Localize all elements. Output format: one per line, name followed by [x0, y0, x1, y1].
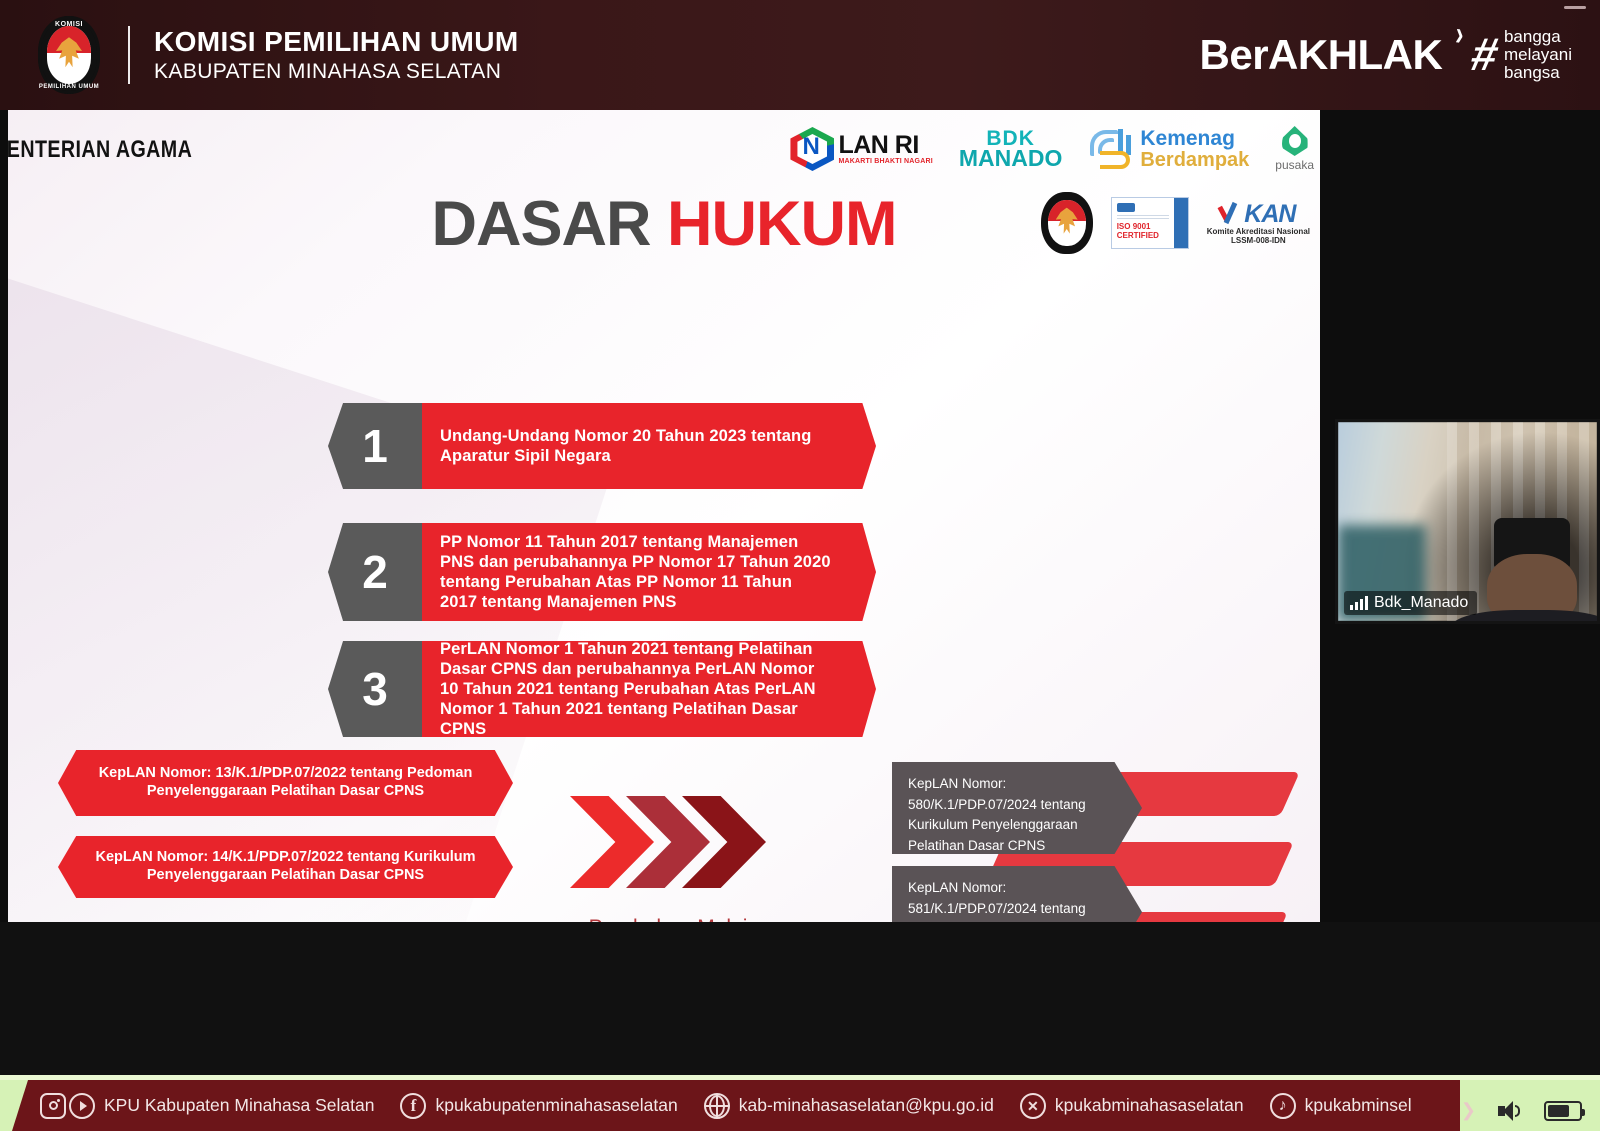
participant-name: Bdk_Manado — [1374, 594, 1468, 612]
kpu-logo: KOMISI PEMILIHAN UMUM — [38, 16, 100, 94]
facebook-icon[interactable]: f — [400, 1093, 426, 1119]
zoom-meeting-window: KOMISI PEMILIHAN UMUM KOMISI PEMILIHAN U… — [0, 0, 1600, 1131]
participant-video-tile[interactable]: Bdk_Manado — [1335, 419, 1600, 624]
shared-slide: MENTERIAN AGAMA N LAN RI MAKARTI BHAKTI … — [8, 110, 1320, 922]
legal-basis-item-2: 2 PP Nomor 11 Tahun 2017 tentang Manajem… — [328, 523, 876, 621]
lanri-tagline: MAKARTI BHAKTI NAGARI — [838, 158, 932, 165]
social-label-facebook: kpukabupatenminahasaselatan — [435, 1095, 677, 1116]
item-number-1: 1 — [328, 403, 422, 489]
brand-text: KOMISI PEMILIHAN UMUM KABUPATEN MINAHASA… — [154, 26, 519, 84]
chevron-caption: Perubahan Mulai Tahun 2025 — [528, 915, 808, 922]
youtube-icon[interactable] — [69, 1093, 95, 1119]
hash-icon: # — [1468, 34, 1502, 75]
chevron-right-icon: › — [1454, 15, 1464, 55]
item-text-3: PerLAN Nomor 1 Tahun 2021 tentang Pelati… — [422, 641, 876, 737]
keplan-gray-banner-2: KepLAN Nomor: 581/K.1/PDP.07/2024 tentan… — [892, 866, 1142, 922]
system-tray: ❯ — [1461, 1100, 1582, 1121]
footer-chevron-icon: ❯ — [1461, 1100, 1476, 1121]
social-label-tiktok: kpukabminsel — [1305, 1095, 1412, 1116]
lanri-logo: N LAN RI MAKARTI BHAKTI NAGARI — [790, 127, 932, 171]
minimize-icon[interactable] — [1564, 6, 1586, 9]
keplan-banner-1: KepLAN Nomor: 13/K.1/PDP.07/2022 tentang… — [58, 750, 513, 816]
pusaka-logo: pusaka — [1275, 126, 1314, 172]
keplan-banner-2: KepLAN Nomor: 14/K.1/PDP.07/2022 tentang… — [58, 836, 513, 898]
berakhlak-word: BerAKHLAK › — [1200, 31, 1443, 79]
tiktok-icon[interactable]: ♪ — [1270, 1093, 1296, 1119]
tagline-line-1: bangga — [1504, 28, 1572, 46]
instagram-youtube-icon — [40, 1093, 95, 1119]
social-label-instagram: KPU Kabupaten Minahasa Selatan — [104, 1095, 374, 1116]
footer-bar: KPU Kabupaten Minahasa Selatan f kpukabu… — [0, 1075, 1600, 1131]
ministry-label: MENTERIAN AGAMA — [8, 136, 192, 164]
pusaka-label: pusaka — [1275, 158, 1314, 172]
app-header: KOMISI PEMILIHAN UMUM KOMISI PEMILIHAN U… — [0, 0, 1600, 110]
lanri-letter: N — [802, 135, 819, 159]
kemenag-berdampak-logo: Kemenag Berdampak — [1088, 127, 1249, 171]
slide-title-part-2: HUKUM — [667, 189, 896, 259]
kpu-logo-ring-bottom: PEMILIHAN UMUM — [38, 84, 100, 90]
kemenag-line-1: Kemenag — [1140, 128, 1249, 149]
item-text-1: Undang-Undang Nomor 20 Tahun 2023 tentan… — [422, 403, 876, 489]
garuda-icon — [56, 37, 82, 67]
tagline-line-3: bangsa — [1504, 64, 1572, 82]
battery-icon[interactable] — [1544, 1101, 1582, 1121]
slide-title-part-1: DASAR — [432, 189, 668, 259]
berakhlak-tagline: bangga melayani bangsa — [1504, 28, 1572, 82]
instagram-icon[interactable] — [40, 1093, 66, 1119]
item-text-2: PP Nomor 11 Tahun 2017 tentang Manajemen… — [422, 523, 876, 621]
header-subtitle: KABUPATEN MINAHASA SELATAN — [154, 59, 519, 84]
participant-figure — [1473, 518, 1592, 624]
kpu-logo-ring-top: KOMISI — [38, 21, 100, 28]
berakhlak-text: BerAKHLAK — [1200, 31, 1443, 78]
x-glyph: ✕ — [1027, 1099, 1039, 1113]
pusaka-drop-icon — [1282, 126, 1308, 156]
keplan-gray-banner-1: KepLAN Nomor: 580/K.1/PDP.07/2024 tentan… — [892, 762, 1142, 854]
social-item-tiktok[interactable]: ♪ kpukabminsel — [1270, 1093, 1412, 1119]
item-number-3: 3 — [328, 641, 422, 737]
social-item-instagram-youtube[interactable]: KPU Kabupaten Minahasa Selatan — [40, 1093, 374, 1119]
signal-bars-icon — [1350, 596, 1368, 610]
berakhlak-logo: BerAKHLAK › # bangga melayani bangsa — [1200, 28, 1573, 82]
globe-icon — [704, 1093, 730, 1119]
kemenag-mark-icon — [1088, 127, 1134, 171]
brand-divider — [128, 26, 130, 84]
item-number-2: 2 — [328, 523, 422, 621]
legal-basis-item-3: 3 PerLAN Nomor 1 Tahun 2021 tentang Pela… — [328, 641, 876, 737]
social-media-bar: KPU Kabupaten Minahasa Selatan f kpukabu… — [12, 1080, 1460, 1131]
chevron-caption-line-1: Perubahan Mulai — [528, 915, 808, 922]
bdk-line-2: MANADO — [959, 148, 1063, 169]
header-title: KOMISI PEMILIHAN UMUM — [154, 26, 519, 58]
footer-top-accent — [0, 1075, 1600, 1080]
social-label-email: kab-minahasaselatan@kpu.go.id — [739, 1095, 994, 1116]
speaker-icon[interactable] — [1498, 1101, 1522, 1121]
lanri-hexagon-icon: N — [790, 127, 834, 171]
lanri-name: LAN RI — [838, 133, 932, 158]
x-twitter-icon[interactable]: ✕ — [1020, 1093, 1046, 1119]
social-label-x: kpukabminahasaselatan — [1055, 1095, 1244, 1116]
social-item-facebook[interactable]: f kpukabupatenminahasaselatan — [400, 1093, 677, 1119]
tiktok-glyph: ♪ — [1279, 1098, 1287, 1114]
legal-basis-item-1: 1 Undang-Undang Nomor 20 Tahun 2023 tent… — [328, 403, 876, 489]
facebook-glyph: f — [411, 1097, 417, 1114]
chevron-arrows-icon — [570, 796, 770, 888]
partner-logos: N LAN RI MAKARTI BHAKTI NAGARI BDK MANAD… — [790, 126, 1314, 172]
social-item-x[interactable]: ✕ kpukabminahasaselatan — [1020, 1093, 1244, 1119]
tagline-line-2: melayani — [1504, 46, 1572, 64]
slide-title: DASAR HUKUM — [8, 188, 1320, 260]
participant-name-badge: Bdk_Manado — [1344, 591, 1477, 615]
kemenag-line-2: Berdampak — [1140, 150, 1249, 170]
bdk-manado-logo: BDK MANADO — [959, 129, 1063, 169]
social-item-email[interactable]: kab-minahasaselatan@kpu.go.id — [704, 1093, 994, 1119]
